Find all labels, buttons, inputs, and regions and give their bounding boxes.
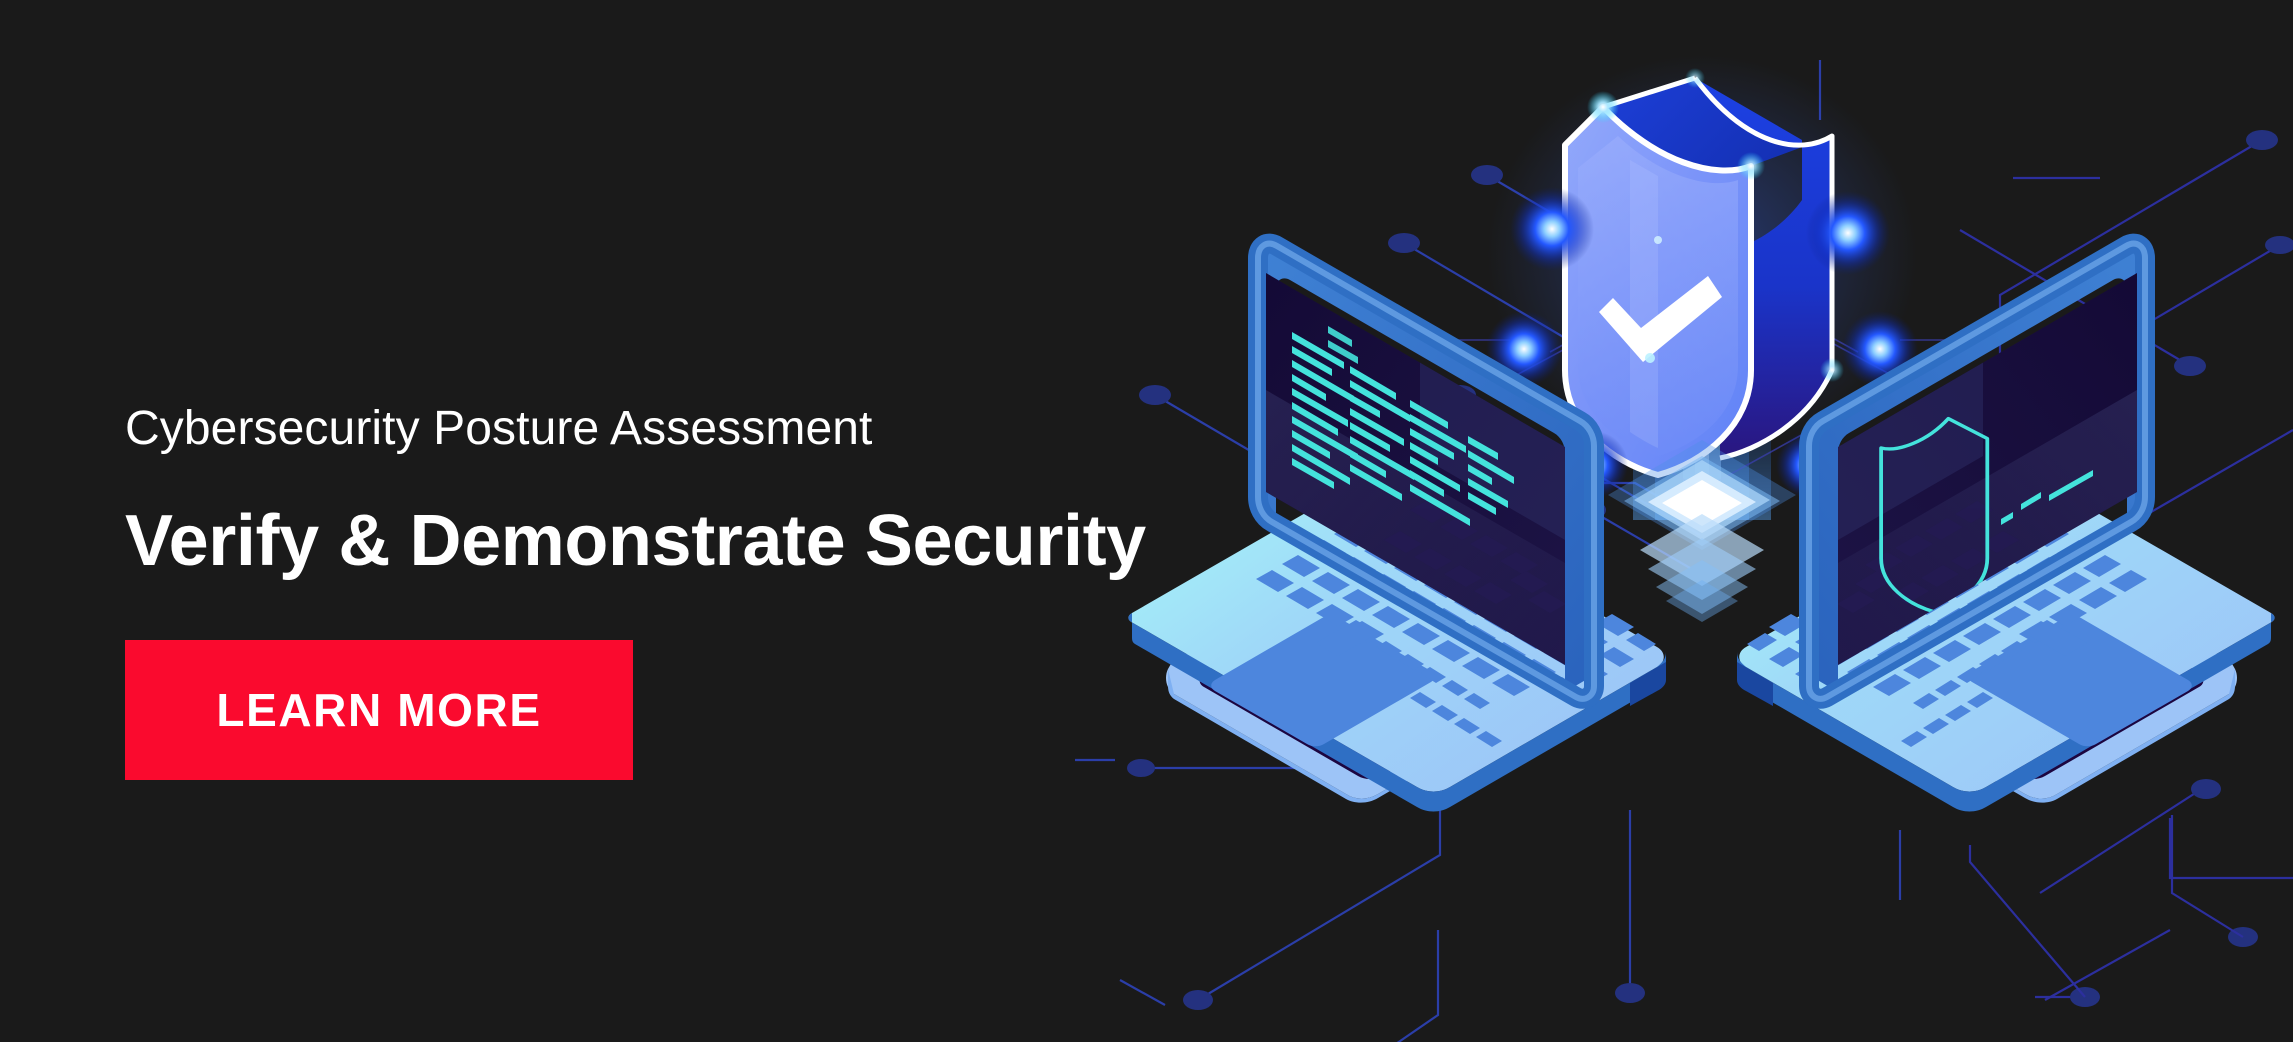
cta-glow-border: LEARN MORE (125, 640, 633, 780)
cta-wrapper: LEARN MORE (125, 640, 1275, 785)
cta-fill: LEARN MORE (125, 640, 633, 780)
copy-block: Cybersecurity Posture Assessment Verify … (125, 404, 1275, 785)
learn-more-label: LEARN MORE (216, 683, 541, 737)
hero-banner: .ln{stroke:#2b3ea8;stroke-width:2.2;fill… (0, 0, 2293, 1042)
security-illustration (1110, 40, 2293, 1042)
eyebrow-text: Cybersecurity Posture Assessment (125, 404, 1275, 454)
learn-more-button[interactable]: LEARN MORE (125, 640, 633, 780)
page-title: Verify & Demonstrate Security (125, 504, 1275, 580)
